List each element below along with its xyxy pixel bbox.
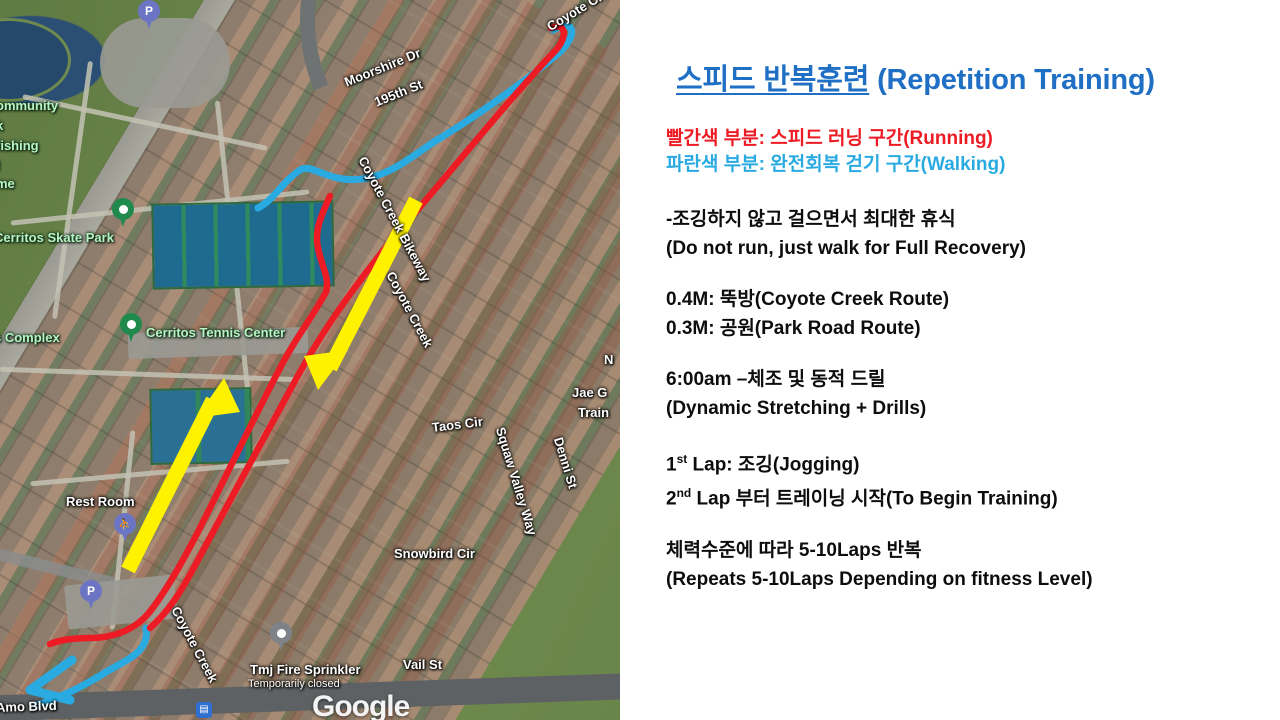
route-color-legend: 빨간색 부분: 스피드 러닝 구간(Running) 파란색 부분: 완전회복 … bbox=[666, 126, 1005, 178]
running-route-red-spur bbox=[317, 196, 330, 292]
place-dot-icon bbox=[112, 198, 134, 220]
instruction-line: 6:00am –체조 및 동적 드릴 bbox=[666, 365, 1266, 394]
instruction-block-repeats: 체력수준에 따라 5-10Laps 반복 (Repeats 5-10Laps D… bbox=[666, 536, 1266, 594]
instruction-line: 체력수준에 따라 5-10Laps 반복 bbox=[666, 536, 1266, 565]
parking-icon: P bbox=[80, 580, 102, 602]
map-pane[interactable]: P P ⛹ ▤ Moorshire Dr195th StCoyote Creek… bbox=[0, 0, 620, 720]
instruction-line: (Repeats 5-10Laps Depending on fitness L… bbox=[666, 565, 1266, 594]
restroom-icon: ⛹ bbox=[114, 513, 136, 535]
lap2-rest: Lap 부터 트레이닝 시작(To Begin Training) bbox=[691, 489, 1057, 510]
instruction-block-warmup: 6:00am –체조 및 동적 드릴 (Dynamic Stretching +… bbox=[666, 365, 1266, 423]
parking-icon: P bbox=[138, 0, 160, 22]
place-dot-icon bbox=[120, 313, 142, 335]
direction-arrow-up bbox=[128, 378, 240, 570]
bus-stop-icon[interactable]: ▤ bbox=[196, 702, 212, 718]
tennis-center-pin[interactable] bbox=[120, 313, 142, 343]
instruction-line-lap1: 1st Lap: 조깅(Jogging) bbox=[666, 445, 1266, 479]
page-title-english: (Repetition Training) bbox=[869, 64, 1155, 96]
parking-pin[interactable]: P bbox=[138, 0, 160, 30]
instruction-line: 0.4M: 뚝방(Coyote Creek Route) bbox=[666, 285, 1266, 314]
instruction-block-laps: 1st Lap: 조깅(Jogging) 2nd Lap 부터 트레이닝 시작(… bbox=[666, 445, 1266, 514]
instruction-line: 0.3M: 공원(Park Road Route) bbox=[666, 314, 1266, 343]
slide-root: P P ⛹ ▤ Moorshire Dr195th StCoyote Creek… bbox=[0, 0, 1280, 720]
business-pin[interactable] bbox=[270, 622, 292, 652]
google-watermark: Google bbox=[312, 690, 409, 720]
instruction-line: (Dynamic Stretching + Drills) bbox=[666, 394, 1266, 423]
instruction-line: (Do not run, just walk for Full Recovery… bbox=[666, 234, 1266, 263]
text-pane: 스피드 반복훈련 (Repetition Training) 빨간색 부분: 스… bbox=[620, 0, 1280, 720]
lap2-suffix: nd bbox=[677, 486, 692, 500]
instruction-line-lap2: 2nd Lap 부터 트레이닝 시작(To Begin Training) bbox=[666, 479, 1266, 513]
restroom-pin[interactable]: ⛹ bbox=[114, 513, 136, 543]
legend-running: 빨간색 부분: 스피드 러닝 구간(Running) bbox=[666, 126, 1005, 152]
legend-walking: 파란색 부분: 완전회복 걷기 구간(Walking) bbox=[666, 152, 1005, 178]
instruction-block-recovery: -조깅하지 않고 걸으면서 최대한 휴식 (Do not run, just w… bbox=[666, 205, 1266, 263]
parking-pin[interactable]: P bbox=[80, 580, 102, 610]
lap1-suffix: st bbox=[677, 452, 688, 466]
walking-route-blue bbox=[258, 26, 572, 208]
lap1-rest: Lap: 조깅(Jogging) bbox=[687, 454, 859, 475]
skate-park-pin[interactable] bbox=[112, 198, 134, 228]
lap1-number: 1 bbox=[666, 454, 677, 475]
lap2-number: 2 bbox=[666, 489, 677, 510]
route-overlay bbox=[0, 0, 620, 720]
page-title-korean: 스피드 반복훈련 bbox=[676, 64, 869, 96]
place-dot-icon bbox=[270, 622, 292, 644]
instruction-block-distances: 0.4M: 뚝방(Coyote Creek Route) 0.3M: 공원(Pa… bbox=[666, 285, 1266, 343]
instruction-list: -조깅하지 않고 걸으면서 최대한 휴식 (Do not run, just w… bbox=[666, 205, 1266, 616]
page-title: 스피드 반복훈련 (Repetition Training) bbox=[676, 56, 1155, 98]
instruction-line: -조깅하지 않고 걸으면서 최대한 휴식 bbox=[666, 205, 1266, 234]
